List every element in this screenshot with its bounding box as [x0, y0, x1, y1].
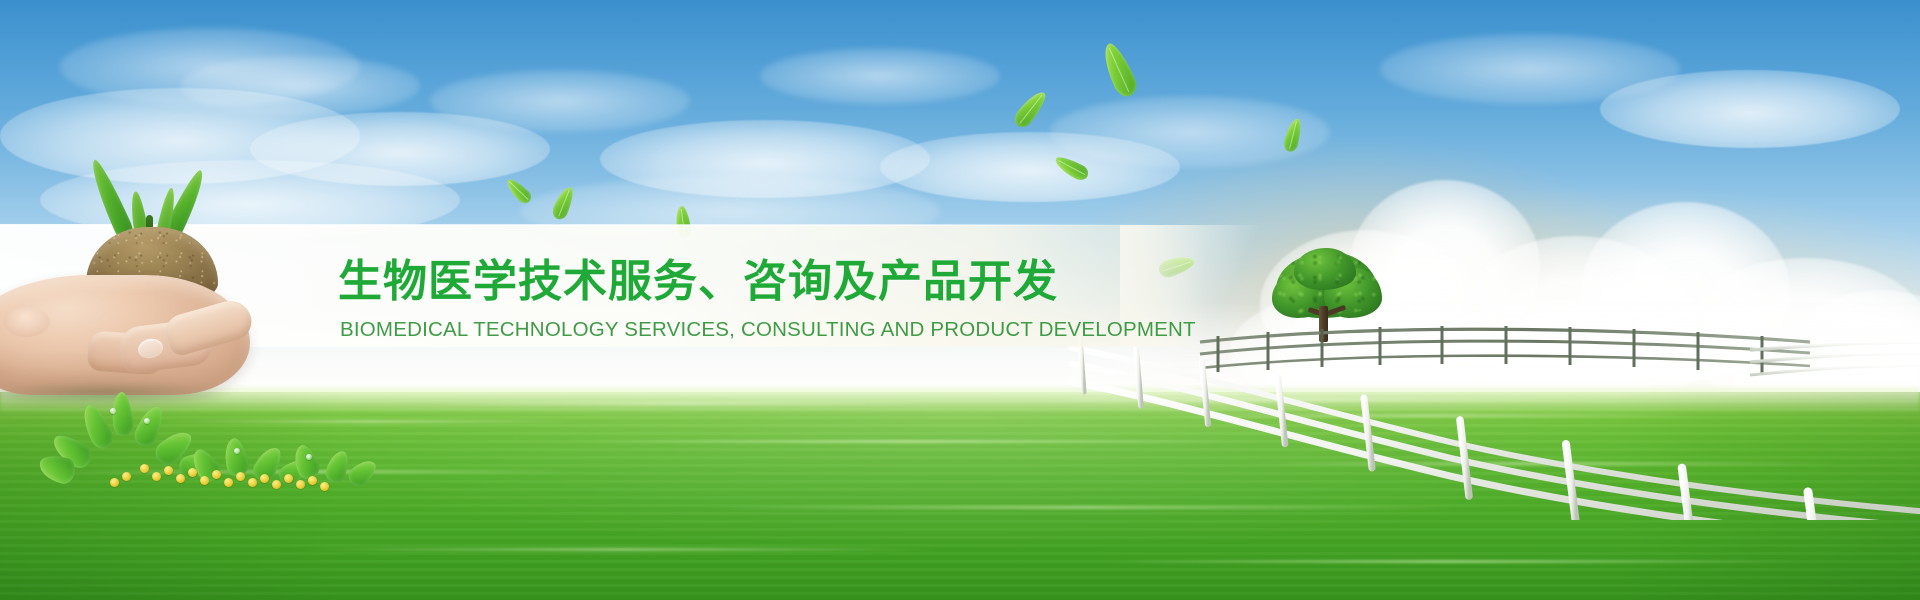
yellow-flower-16: [110, 478, 119, 487]
shrub-leaf-2: [110, 391, 134, 437]
yellow-flower-4: [188, 468, 197, 477]
yellow-flower-0: [140, 464, 149, 473]
yellow-flower-15: [122, 472, 131, 481]
dew-drop-2: [234, 448, 240, 454]
leaf-vein: [1289, 121, 1297, 149]
yellow-flower-3: [176, 474, 185, 483]
yellow-flower-6: [212, 470, 221, 479]
shrub-leaf-12: [324, 448, 352, 484]
cloud-6: [760, 48, 1000, 104]
hero-banner: 生物医学技术服务、咨询及产品开发 BIOMEDICAL TECHNOLOGY S…: [0, 0, 1920, 600]
dew-drop-1: [144, 418, 150, 424]
fence-mid-run: [1750, 337, 1920, 380]
yellow-flower-11: [272, 480, 281, 489]
yellow-flower-5: [200, 476, 209, 485]
yellow-flower-13: [296, 480, 305, 489]
cloud-10: [1600, 70, 1900, 148]
yellow-flower-1: [152, 472, 161, 481]
yellow-flower-7: [224, 478, 233, 487]
shrub-leaf-13: [345, 455, 380, 490]
yellow-flower-9: [248, 478, 257, 487]
fence: [1050, 320, 1920, 520]
dew-drop-3: [306, 454, 312, 460]
yellow-flower-10: [260, 474, 269, 483]
shrub-leaf-8: [221, 436, 250, 478]
yellow-flower-2: [164, 466, 173, 475]
cloud-4: [430, 70, 690, 132]
yellow-flower-14: [308, 476, 317, 485]
fence-far-run: [1200, 326, 1810, 373]
yellow-flower-8: [236, 472, 245, 481]
yellow-flower-12: [284, 474, 293, 483]
page-title: 生物医学技术服务、咨询及产品开发: [338, 256, 998, 308]
page-subtitle: BIOMEDICAL TECHNOLOGY SERVICES, CONSULTI…: [340, 317, 1040, 343]
shrub-with-flowers: [52, 388, 382, 508]
yellow-flower-17: [320, 482, 329, 491]
palm-highlight: [4, 307, 50, 337]
dew-drop-0: [110, 408, 116, 414]
